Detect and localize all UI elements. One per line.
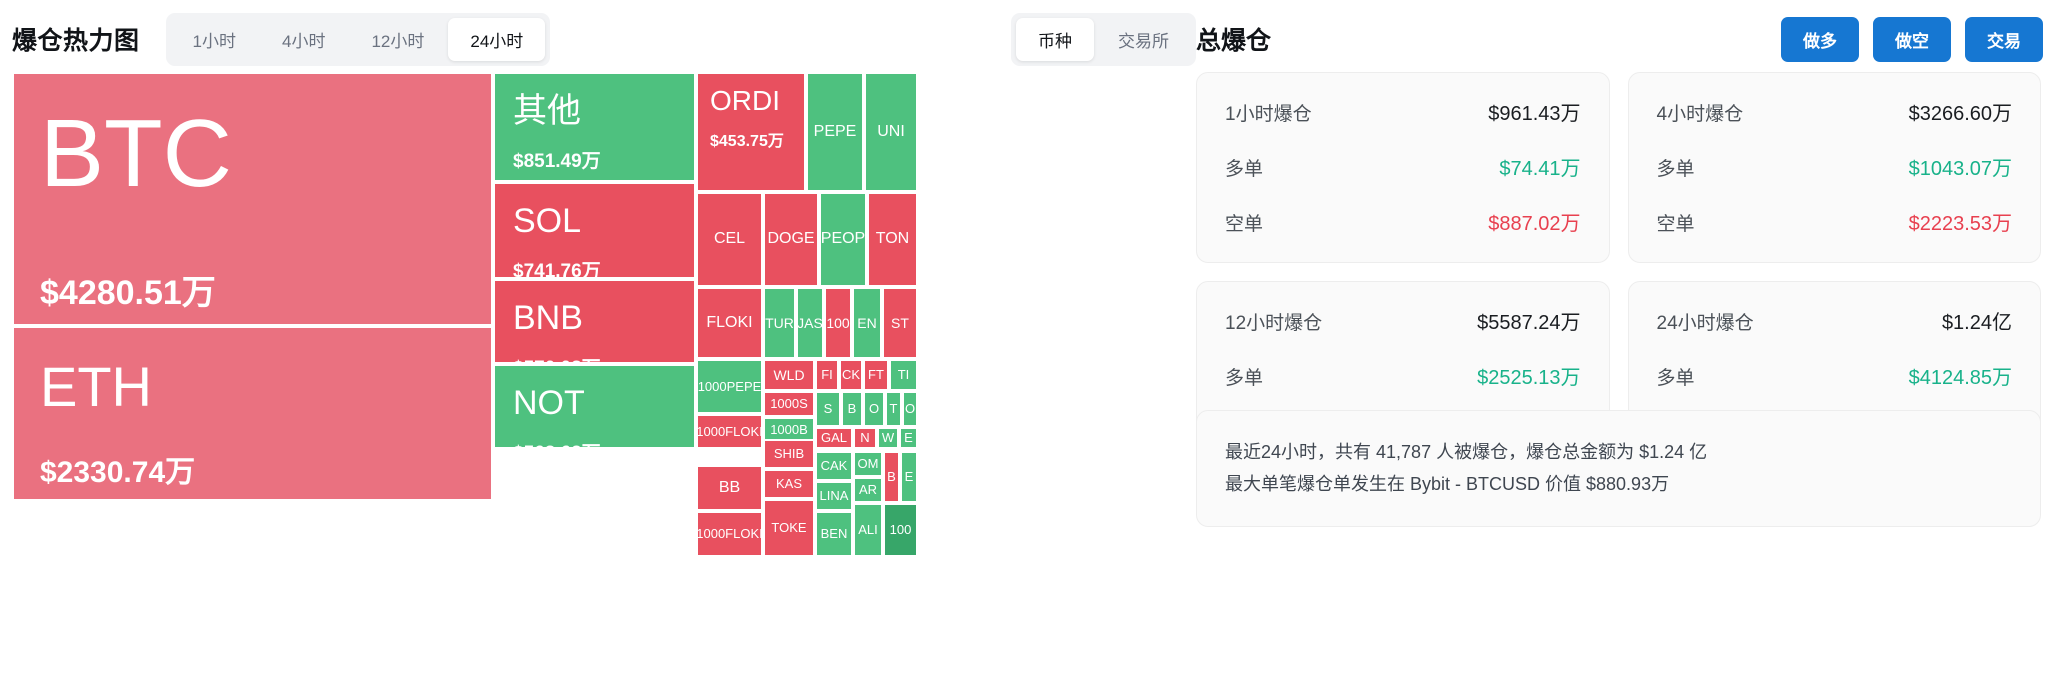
treemap-tile[interactable]: TI [889,359,918,391]
tile-symbol: T [890,402,898,416]
tile-symbol: WLD [773,368,804,383]
treemap-tile[interactable]: WLD [763,359,815,391]
treemap-tile[interactable]: AR [853,477,883,503]
treemap-tile[interactable]: TON [867,192,918,287]
treemap-tile[interactable]: KAS [763,469,815,499]
tile-symbol: TOKE [771,521,806,535]
long-button[interactable]: 做多 [1781,17,1859,62]
tile-symbol: KAS [776,477,802,491]
tile-symbol: CAK [821,459,848,473]
tile-symbol: BNB [513,301,676,337]
treemap-tile[interactable]: 1000FLOKI [696,414,763,449]
treemap-tile[interactable]: BTC$4280.51万 [12,72,493,326]
stat-row-long: 多单 $2525.13万 [1225,361,1581,390]
tab-coin[interactable]: 币种 [1016,18,1094,61]
treemap-tile[interactable]: S [815,391,841,427]
tile-symbol: W [882,431,894,445]
tile-symbol: PEPE [814,124,857,141]
tab-4h[interactable]: 4小时 [260,18,347,61]
tile-symbol: 1000PEPE [698,380,762,394]
treemap-tile[interactable]: ST [882,287,918,359]
totals-title: 总爆仓 [1196,21,1271,57]
summary-line-1: 最近24小时，共有 41,787 人被爆仓，爆仓总金额为 $1.24 亿 [1225,437,2012,469]
heatmap-header: 爆仓热力图 1小时 4小时 12小时 24小时 币种 交易所 [0,0,1196,78]
tile-symbol: 1000FLOKI [696,527,763,541]
treemap-tile[interactable]: JAS [796,287,824,359]
stat-value: $2525.13万 [1477,361,1580,390]
tile-symbol: TON [876,231,909,248]
stat-value: $887.02万 [1488,207,1580,236]
stat-card-4h[interactable]: 4小时爆仓 $3266.60万 多单 $1043.07万 空单 $2223.53… [1628,72,2042,263]
tile-symbol: NOT [513,386,676,422]
stat-label: 多单 [1657,363,1695,390]
treemap-tile[interactable]: DOGE [763,192,819,287]
tile-symbol: UNI [877,124,905,141]
stat-label: 多单 [1225,363,1263,390]
treemap-tile[interactable]: PEOP [819,192,867,287]
tile-symbol: FT [868,368,884,382]
tile-symbol: E [905,470,914,484]
treemap-tile[interactable]: FLOKI [696,287,763,359]
treemap-tile[interactable]: W [877,427,899,449]
treemap-tile[interactable]: 其他$851.49万 [493,72,696,182]
tile-symbol: SOL [513,204,676,240]
totals-panel: 总爆仓 做多 做空 交易 1小时爆仓 $961.43万 多单 $74.41万 空… [1196,0,2061,673]
treemap-tile[interactable]: OM [853,451,883,477]
treemap-tile[interactable]: GAL [815,427,853,449]
tile-symbol: EN [857,316,876,331]
treemap-tile[interactable]: O [902,391,918,427]
treemap-tile[interactable]: NOT$563.62万 [493,364,696,449]
tile-symbol: JAS [797,316,823,331]
grouping-tabs: 币种 交易所 [1011,13,1196,66]
action-buttons: 做多 做空 交易 [1781,17,2043,62]
tile-symbol: ALI [858,523,878,537]
stat-label: 空单 [1657,209,1695,236]
tile-symbol: 其他 [513,94,676,130]
stat-row-long: 多单 $1043.07万 [1657,152,2013,181]
treemap-tile[interactable]: CAK [815,451,853,481]
treemap-tile[interactable]: B [883,451,900,503]
stat-row-long: 多单 $4124.85万 [1657,361,2013,390]
stat-label: 12小时爆仓 [1225,308,1322,335]
treemap-tile[interactable]: E [900,451,918,503]
treemap-tile[interactable]: 1000FLOKI [696,511,763,557]
tab-exchange[interactable]: 交易所 [1096,18,1191,61]
stat-value: $74.41万 [1499,152,1580,181]
stat-value: $4124.85万 [1909,361,2012,390]
treemap-small-tiles-band: BB1000FLOKISHIBKASTOKECAKLINABENOMARALIB… [12,449,1184,668]
tile-symbol: FLOKI [706,315,752,332]
stat-value: $3266.60万 [1909,97,2012,126]
tile-value: $741.76万 [513,256,676,279]
treemap-tile[interactable]: E [899,427,918,449]
summary-card: 最近24小时，共有 41,787 人被爆仓，爆仓总金额为 $1.24 亿 最大单… [1196,410,2041,527]
tile-symbol: 1000S [770,397,808,411]
treemap-tile[interactable]: SOL$741.76万 [493,182,696,279]
trade-button[interactable]: 交易 [1965,17,2043,62]
stat-value: $2223.53万 [1909,207,2012,236]
treemap-tile[interactable]: ALI [853,503,883,557]
treemap-tile[interactable]: FT [863,359,889,391]
summary-line-2: 最大单笔爆仓单发生在 Bybit - BTCUSD 价值 $880.93万 [1225,469,2012,501]
treemap-tile[interactable]: CEL [696,192,763,287]
treemap-tile[interactable]: ORDI$453.75万 [696,72,806,192]
treemap-tile[interactable]: B [841,391,863,427]
tile-value: $570.08万 [513,353,676,364]
tile-symbol: O [869,402,879,416]
tile-value: $851.49万 [513,146,676,173]
tile-value: $563.62万 [513,438,676,449]
treemap-tile[interactable]: TOKE [763,499,815,557]
tile-symbol: TUR [765,316,794,331]
tile-symbol: BB [719,480,740,497]
short-button[interactable]: 做空 [1873,17,1951,62]
stat-row-short: 空单 $887.02万 [1225,207,1581,236]
tile-symbol: BTC [40,104,465,205]
stat-card-1h[interactable]: 1小时爆仓 $961.43万 多单 $74.41万 空单 $887.02万 [1196,72,1610,263]
treemap-tile[interactable]: BB [696,465,763,511]
tab-1h[interactable]: 1小时 [171,18,258,61]
timeframe-tabs: 1小时 4小时 12小时 24小时 [166,13,551,66]
page-title: 爆仓热力图 [12,21,140,57]
treemap-tile[interactable]: O [863,391,885,427]
stat-label: 4小时爆仓 [1657,99,1744,126]
treemap-tile[interactable]: SHIB [763,439,815,469]
tile-symbol: S [824,402,833,416]
tile-symbol: 1000FLOKI [696,425,763,439]
stat-label: 24小时爆仓 [1657,308,1754,335]
tile-symbol: ST [891,316,909,331]
tile-symbol: O [905,402,915,416]
tile-value: $4280.51万 [40,265,465,314]
treemap-tile[interactable]: EN [852,287,882,359]
treemap-tile[interactable]: LINA [815,481,853,511]
heatmap-panel: 爆仓热力图 1小时 4小时 12小时 24小时 币种 交易所 BTC$4280.… [0,0,1196,673]
tile-symbol: 1000B [770,423,808,437]
tab-24h[interactable]: 24小时 [448,18,545,61]
treemap-tile[interactable]: T [885,391,902,427]
stat-label: 空单 [1225,209,1263,236]
tab-12h[interactable]: 12小时 [349,18,446,61]
stat-row-short: 空单 $2223.53万 [1657,207,2013,236]
stat-row-total: 4小时爆仓 $3266.60万 [1657,97,2013,126]
tile-symbol: TI [898,368,910,382]
tile-symbol: BEN [821,527,848,541]
stat-row-total: 24小时爆仓 $1.24亿 [1657,306,2013,335]
tile-symbol: DOGE [767,231,814,248]
tile-symbol: CEL [714,231,745,248]
tile-value: $453.75万 [710,127,792,151]
tile-symbol: FI [821,368,833,382]
tile-symbol: ETH [40,358,465,417]
treemap-tile[interactable]: PEPE [806,72,864,192]
tile-symbol: AR [859,483,877,497]
tile-symbol: B [887,470,896,484]
stat-label: 多单 [1657,154,1695,181]
stat-row-total: 1小时爆仓 $961.43万 [1225,97,1581,126]
tile-symbol: 100 [890,523,912,537]
tile-symbol: E [904,431,913,445]
treemap-tile[interactable]: 1000S [763,391,815,417]
treemap-tile[interactable]: FI [815,359,839,391]
liquidation-treemap[interactable]: BTC$4280.51万ETH$2330.74万其他$851.49万SOL$74… [12,72,1184,668]
tile-symbol: SHIB [774,447,804,461]
treemap-tile[interactable]: UNI [864,72,918,192]
treemap-tile[interactable]: BNB$570.08万 [493,279,696,364]
stat-label: 1小时爆仓 [1225,99,1312,126]
treemap-tile[interactable]: CK [839,359,863,391]
tile-symbol: CK [842,368,860,382]
stat-value: $1.24亿 [1942,306,2012,335]
stat-label: 多单 [1225,154,1263,181]
treemap-tile[interactable]: BEN [815,511,853,557]
treemap-tile[interactable]: TUR [763,287,796,359]
tile-symbol: PEOP [821,231,865,248]
stat-value: $1043.07万 [1909,152,2012,181]
tile-symbol: 100 [826,316,849,331]
treemap-tile[interactable]: 100 [824,287,852,359]
tile-symbol: LINA [820,489,849,503]
treemap-tile[interactable]: 100 [883,503,918,557]
liquidation-heatmap-page: 爆仓热力图 1小时 4小时 12小时 24小时 币种 交易所 BTC$4280.… [0,0,2061,673]
tile-symbol: N [860,431,869,445]
totals-header: 总爆仓 做多 做空 交易 [1196,0,2061,78]
tile-symbol: ORDI [710,86,792,115]
stat-value: $5587.24万 [1477,306,1580,335]
tile-symbol: OM [858,457,879,471]
tile-symbol: GAL [821,431,847,445]
treemap-tile[interactable]: 1000PEPE [696,359,763,414]
treemap-tile[interactable]: N [853,427,877,449]
tile-symbol: B [848,402,857,416]
stat-value: $961.43万 [1488,97,1580,126]
stat-row-long: 多单 $74.41万 [1225,152,1581,181]
stat-row-total: 12小时爆仓 $5587.24万 [1225,306,1581,335]
